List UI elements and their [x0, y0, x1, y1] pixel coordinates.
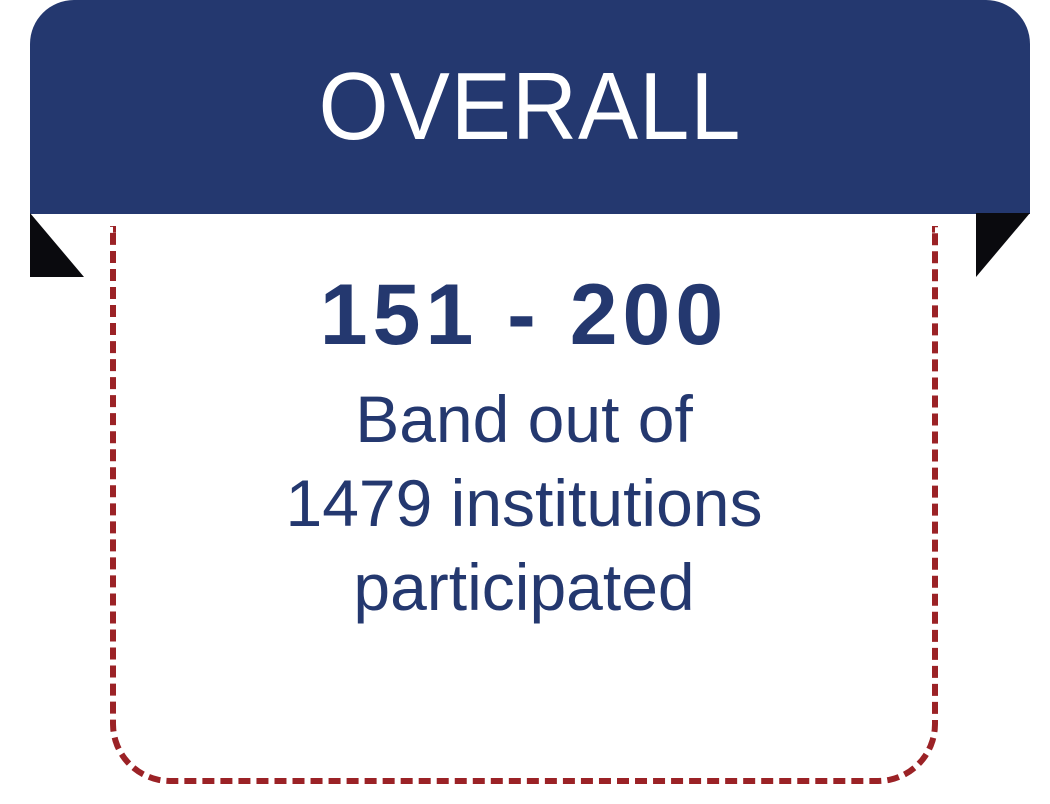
band-caption-line-1: Band out of	[286, 378, 763, 462]
band-caption: Band out of 1479 institutions participat…	[286, 378, 763, 629]
banner-title: OVERALL	[319, 59, 742, 155]
card-body: 151 - 200 Band out of 1479 institutions …	[110, 226, 938, 784]
overall-ranking-card: OVERALL 151 - 200 Band out of 1479 insti…	[0, 0, 1050, 804]
band-value: 151 - 200	[320, 270, 728, 360]
ribbon-fold-right-icon	[976, 213, 1030, 277]
banner-header: OVERALL	[30, 0, 1030, 214]
ribbon-fold-left-icon	[30, 213, 84, 277]
band-caption-line-2: 1479 institutions	[286, 462, 763, 546]
band-caption-line-3: participated	[286, 546, 763, 630]
